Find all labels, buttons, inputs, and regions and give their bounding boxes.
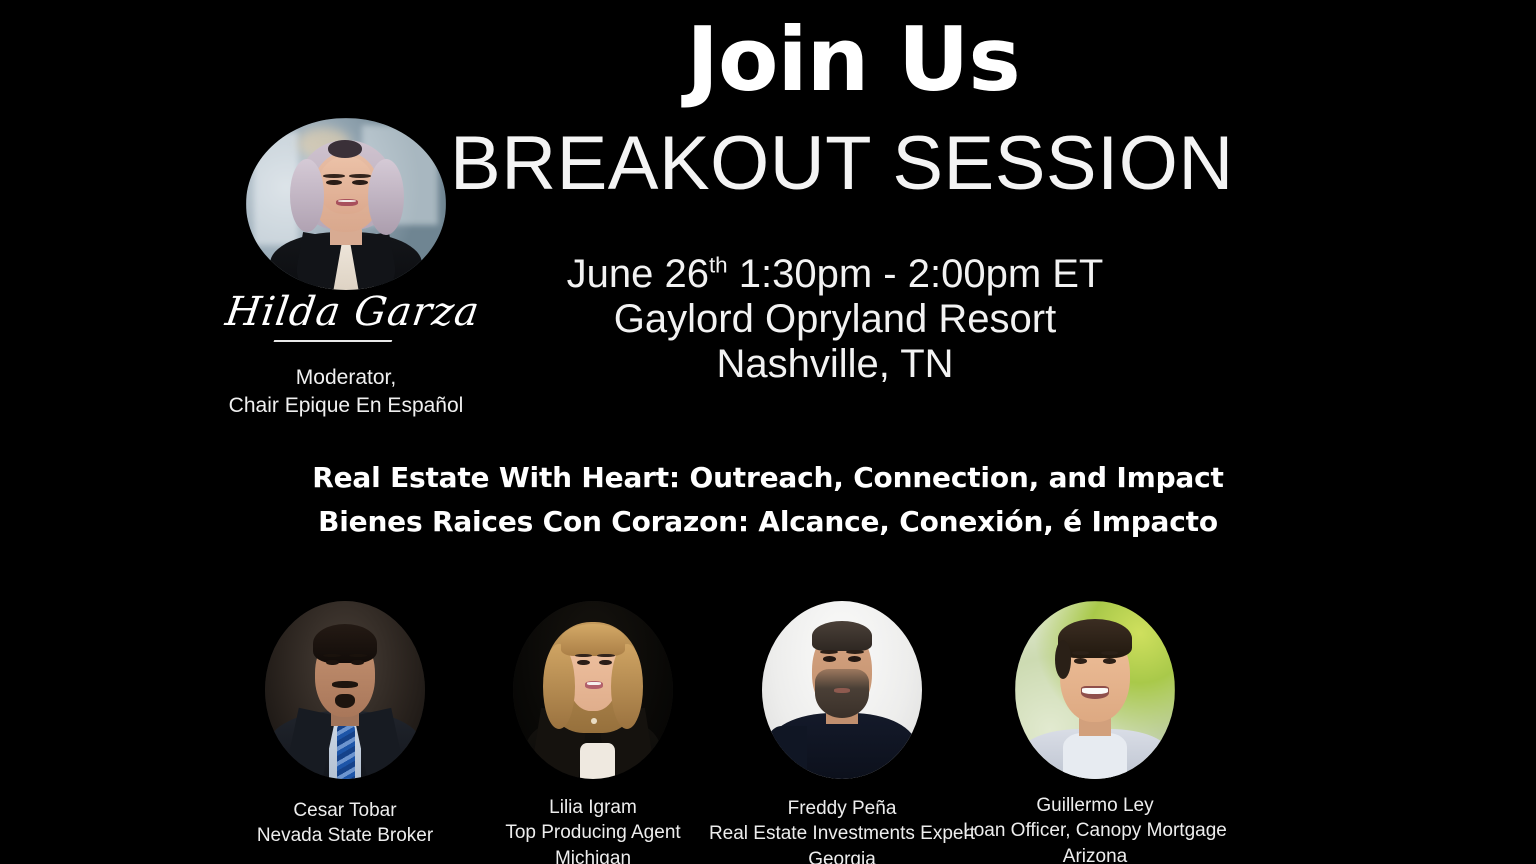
- speaker-portrait-illustration: [1015, 601, 1175, 779]
- moderator-portrait-illustration: [246, 118, 446, 290]
- speaker-card-cesar-tobar: Cesar Tobar Nevada State Broker: [220, 601, 470, 849]
- session-title-english: Real Estate With Heart: Outreach, Connec…: [0, 456, 1536, 500]
- speaker-location: Michigan: [453, 846, 733, 864]
- moderator-affiliation: Chair Epique En Español: [166, 392, 526, 420]
- event-venue: Gaylord Opryland Resort: [430, 297, 1240, 342]
- speaker-title: Loan Officer, Canopy Mortgage: [955, 818, 1235, 843]
- moderator-block: Hilda Garza Moderator, Chair Epique En E…: [226, 118, 466, 290]
- speaker-card-freddy-pena: Freddy Peña Real Estate Investments Expe…: [717, 601, 967, 864]
- speakers-row: Cesar Tobar Nevada State Broker: [220, 601, 1320, 864]
- speaker-photo-guillermo-ley: [1015, 601, 1175, 779]
- join-us-heading: Join Us: [0, 16, 1536, 104]
- moderator-signature: Hilda Garza: [223, 292, 469, 332]
- speaker-photo-cesar-tobar: [265, 601, 425, 779]
- event-flyer-slide: Join Us BREAKOUT SESSION June 26th 1:30p…: [0, 0, 1536, 864]
- moderator-photo: [246, 118, 446, 290]
- moderator-role: Moderator,: [166, 364, 526, 392]
- speaker-title: Real Estate Investments Expert: [702, 821, 982, 846]
- speaker-location: Georgia: [702, 847, 982, 864]
- speaker-card-guillermo-ley: Guillermo Ley Loan Officer, Canopy Mortg…: [970, 601, 1220, 864]
- speaker-caption: Lilia Igram Top Producing Agent Michigan: [453, 795, 733, 864]
- speaker-caption: Cesar Tobar Nevada State Broker: [205, 798, 485, 849]
- speaker-location: Arizona: [955, 844, 1235, 864]
- event-city: Nashville, TN: [430, 342, 1240, 387]
- signature-underline-flourish: [274, 340, 393, 342]
- breakout-session-heading: BREAKOUT SESSION: [450, 126, 1234, 202]
- speaker-photo-freddy-pena: [762, 601, 922, 779]
- speaker-caption: Freddy Peña Real Estate Investments Expe…: [702, 796, 982, 864]
- speaker-portrait-illustration: [265, 601, 425, 779]
- speaker-title: Top Producing Agent: [453, 820, 733, 845]
- speaker-card-lilia-igram: Lilia Igram Top Producing Agent Michigan: [468, 601, 718, 864]
- speaker-caption: Guillermo Ley Loan Officer, Canopy Mortg…: [955, 793, 1235, 864]
- event-time: 1:30pm - 2:00pm ET: [728, 252, 1104, 296]
- speaker-name: Lilia Igram: [453, 795, 733, 820]
- event-datetime-line: June 26th 1:30pm - 2:00pm ET: [430, 252, 1240, 297]
- event-date: June 26: [567, 252, 709, 296]
- session-title-block: Real Estate With Heart: Outreach, Connec…: [0, 456, 1536, 544]
- speaker-name: Cesar Tobar: [205, 798, 485, 823]
- event-details: June 26th 1:30pm - 2:00pm ET Gaylord Opr…: [430, 252, 1240, 386]
- speaker-name: Freddy Peña: [702, 796, 982, 821]
- speaker-portrait-illustration: [513, 601, 673, 779]
- speaker-title: Nevada State Broker: [205, 823, 485, 848]
- speaker-name: Guillermo Ley: [955, 793, 1235, 818]
- speaker-portrait-illustration: [762, 601, 922, 779]
- date-ordinal-suffix: th: [709, 253, 728, 278]
- moderator-role-block: Moderator, Chair Epique En Español: [166, 364, 526, 419]
- speaker-photo-lilia-igram: [513, 601, 673, 779]
- moderator-photo-wrap: [246, 118, 446, 290]
- session-title-spanish: Bienes Raices Con Corazon: Alcance, Cone…: [0, 500, 1536, 544]
